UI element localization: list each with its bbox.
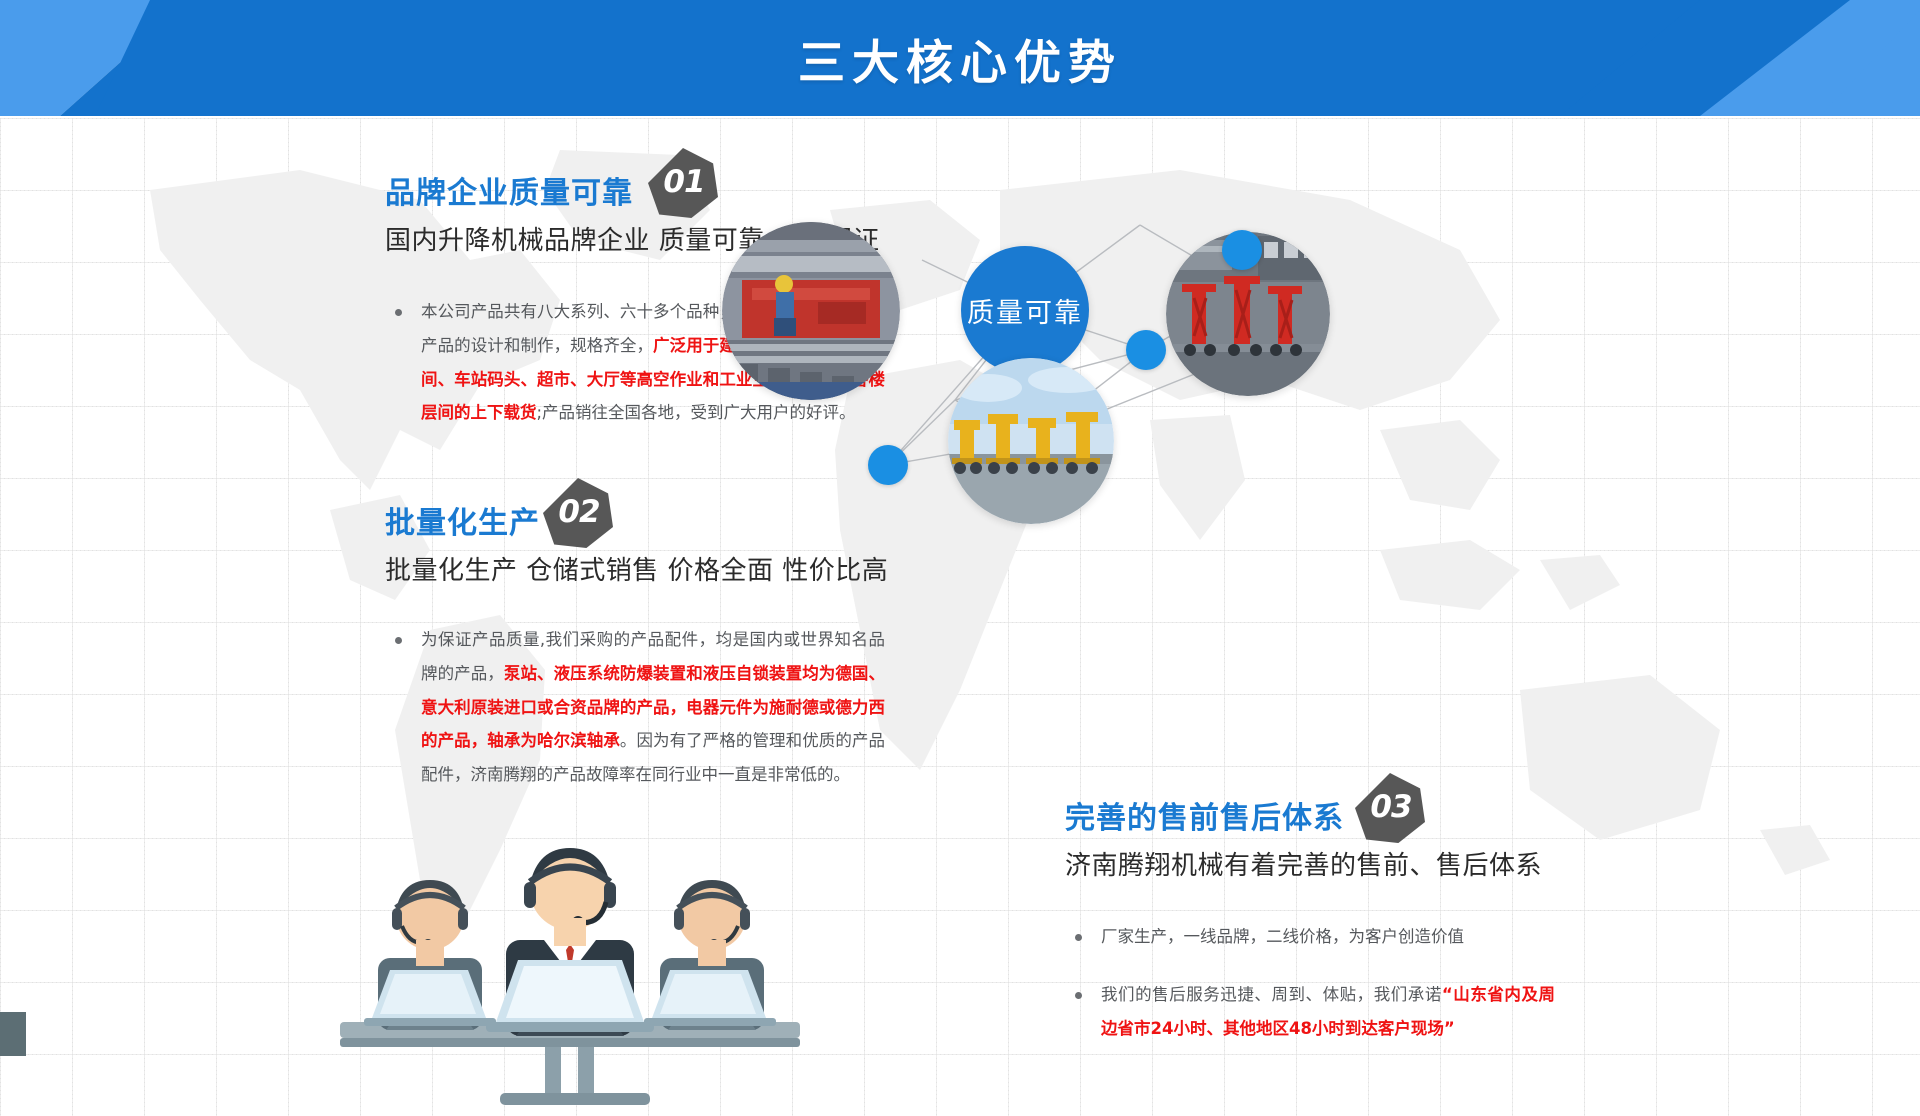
network-dot-top-right[interactable] bbox=[1222, 230, 1262, 270]
bullet-text-part: 厂家生产，一线品牌，二线价格，为客户创造价值 bbox=[1101, 927, 1464, 946]
hub-node-label: 质量可靠 bbox=[967, 291, 1083, 330]
feature-03-bullets: 厂家生产，一线品牌，二线价格，为客户创造价值 我们的售后服务迅捷、周到、体贴，我… bbox=[1065, 920, 1555, 1045]
bullet-item: 厂家生产，一线品牌，二线价格，为客户创造价值 bbox=[1065, 920, 1555, 954]
bullet-item: 为保证产品质量,我们采购的产品配件，均是国内或世界知名品牌的产品，泵站、液压系统… bbox=[385, 623, 885, 792]
feature-03-subtitle: 济南腾翔机械有着完善的售前、售后体系 bbox=[1065, 845, 1585, 882]
feature-02-badge-number: 02 bbox=[558, 494, 599, 530]
feature-03-badge-number: 03 bbox=[1370, 789, 1411, 825]
feature-block-02: 批量化生产 02 批量化生产 仓储式销售 价格全面 性价比高 为保证产品质量,我… bbox=[385, 490, 905, 816]
bullet-text-part: 我们的售后服务迅捷、周到、体贴，我们承诺 bbox=[1101, 985, 1442, 1004]
feature-02-head: 批量化生产 02 bbox=[385, 490, 905, 548]
header-banner: 三大核心优势 bbox=[0, 0, 1920, 116]
photo-node-workshop[interactable] bbox=[722, 222, 900, 400]
feature-01-badge-number: 01 bbox=[663, 164, 704, 200]
feature-02-bullets: 为保证产品质量,我们采购的产品配件，均是国内或世界知名品牌的产品，泵站、液压系统… bbox=[385, 623, 885, 792]
feature-01-badge: 01 bbox=[648, 148, 718, 218]
page-title: 三大核心优势 bbox=[0, 0, 1920, 116]
bullet-item: 我们的售后服务迅捷、周到、体贴，我们承诺“山东省内及周边省市24小时、其他地区4… bbox=[1065, 978, 1555, 1046]
feature-02-badge: 02 bbox=[543, 478, 613, 548]
network-dot-left[interactable] bbox=[868, 445, 908, 485]
feature-03-head: 完善的售前售后体系 03 bbox=[1065, 785, 1585, 843]
feature-block-03: 完善的售前售后体系 03 济南腾翔机械有着完善的售前、售后体系 厂家生产，一线品… bbox=[1065, 785, 1585, 1069]
feature-03-badge: 03 bbox=[1355, 773, 1425, 843]
bullet-text-part: ;产品销往全国各地，受到广大用户的好评。 bbox=[537, 403, 856, 422]
slide-canvas: 三大核心优势 品牌企业质量可靠 01 国内升降机械品牌企业 质量可靠 品质保证 … bbox=[0, 0, 1920, 1116]
feature-02-subtitle: 批量化生产 仓储式销售 价格全面 性价比高 bbox=[385, 550, 905, 587]
feature-02-title: 批量化生产 bbox=[385, 498, 540, 542]
bottom-left-accent bbox=[0, 1012, 26, 1056]
network-dot-center[interactable] bbox=[1126, 330, 1166, 370]
call-center-illustration bbox=[330, 790, 810, 1110]
feature-01-head: 品牌企业质量可靠 01 bbox=[385, 160, 905, 218]
feature-03-title: 完善的售前售后体系 bbox=[1065, 793, 1344, 837]
feature-01-title: 品牌企业质量可靠 bbox=[385, 168, 633, 212]
network-diagram: 质量可靠 bbox=[850, 140, 1550, 560]
hub-node-quality[interactable]: 质量可靠 bbox=[961, 246, 1089, 374]
photo-node-yellow-lift[interactable] bbox=[948, 358, 1114, 524]
